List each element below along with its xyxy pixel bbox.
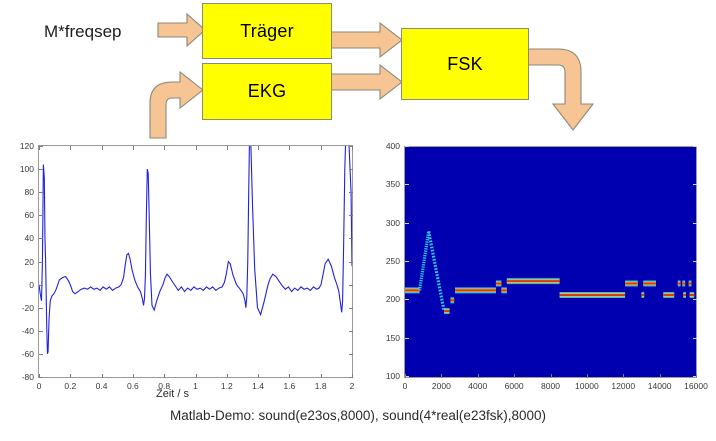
ekg-x-tick-label: 1.4	[244, 381, 272, 391]
ekg-x-tick-mark	[70, 374, 71, 378]
ekg-x-tick-mark	[39, 146, 40, 150]
ekg-plot-area	[38, 145, 353, 378]
arrow-trager-to-fsk	[330, 23, 402, 57]
arrow-ekg-to-fsk	[330, 65, 402, 99]
ekg-x-tick-mark	[227, 374, 228, 378]
ekg-x-tick-label: 0.6	[119, 381, 147, 391]
ekg-x-tick-mark	[133, 146, 134, 150]
ekg-x-tick-mark	[227, 146, 228, 150]
figure-caption: Matlab-Demo: sound(e23os,8000), sound(4*…	[0, 408, 716, 423]
ekg-x-tick-label: 0.2	[56, 381, 84, 391]
block-trager[interactable]: Träger	[202, 3, 332, 59]
ekg-x-tick-mark	[70, 146, 71, 150]
label-m-freqsep: M*freqsep	[44, 22, 121, 42]
ekg-y-tick-label: 20	[8, 257, 34, 267]
spectrogram-y-tick-mark	[693, 261, 697, 262]
spectrogram-x-tick-mark	[623, 374, 624, 378]
spectrogram-y-tick-label: 100	[380, 371, 400, 381]
ekg-x-tick-mark	[289, 146, 290, 150]
ekg-x-tick-label: 2	[338, 381, 366, 391]
chart-ekg-signal: -80-60-40-20020406080100120 00.20.40.60.…	[8, 138, 360, 402]
ekg-y-tick-label: -20	[8, 303, 34, 313]
ekg-x-tick-mark	[289, 374, 290, 378]
ekg-y-tick-label: -60	[8, 349, 34, 359]
ekg-y-tick-mark	[349, 331, 353, 332]
spectrogram-x-tick-mark	[514, 374, 515, 378]
ekg-x-tick-label: 1.6	[275, 381, 303, 391]
spectrogram-y-tick-mark	[693, 299, 697, 300]
spectrogram-x-tick-label: 12000	[605, 381, 641, 391]
block-diagram: M*freqsep Träger EKG FSK	[0, 0, 716, 140]
ekg-y-tick-mark	[39, 262, 43, 263]
ekg-x-tick-mark	[352, 146, 353, 150]
ekg-y-tick-mark	[349, 308, 353, 309]
ekg-x-axis-label: Zeit / s	[156, 388, 189, 400]
ekg-x-tick-mark	[102, 374, 103, 378]
spectrogram-x-tick-mark	[441, 374, 442, 378]
spectrogram-x-tick-mark	[696, 374, 697, 378]
spectrogram-y-tick-label: 300	[380, 218, 400, 228]
spectrogram-x-tick-label: 0	[387, 381, 423, 391]
ekg-y-tick-mark	[39, 192, 43, 193]
spectrogram-x-tick-label: 6000	[496, 381, 532, 391]
ekg-x-tick-mark	[133, 374, 134, 378]
spectrogram-y-tick-label: 250	[380, 256, 400, 266]
spectrogram-y-tick-mark	[405, 184, 409, 185]
spectrogram-y-tick-mark	[405, 146, 409, 147]
ekg-y-tick-mark	[349, 192, 353, 193]
spectrogram-x-tick-mark	[551, 374, 552, 378]
ekg-x-tick-mark	[102, 146, 103, 150]
ekg-y-tick-mark	[349, 215, 353, 216]
spectrogram-x-tick-mark	[660, 374, 661, 378]
ekg-y-tick-mark	[349, 285, 353, 286]
block-fsk[interactable]: FSK	[401, 28, 529, 100]
ekg-trace	[39, 146, 352, 354]
spectrogram-y-tick-mark	[693, 223, 697, 224]
ekg-x-tick-label: 0.4	[88, 381, 116, 391]
spectrogram-y-tick-mark	[405, 223, 409, 224]
ekg-y-tick-mark	[39, 215, 43, 216]
ekg-y-tick-mark	[39, 238, 43, 239]
ekg-x-tick-mark	[321, 146, 322, 150]
block-ekg[interactable]: EKG	[202, 63, 332, 120]
ekg-y-tick-mark	[349, 238, 353, 239]
spectrogram-x-tick-label: 14000	[642, 381, 678, 391]
ekg-y-tick-mark	[39, 331, 43, 332]
ekg-x-tick-mark	[258, 146, 259, 150]
spectrogram-y-tick-label: 400	[380, 141, 400, 151]
ekg-x-tick-mark	[196, 374, 197, 378]
spectrogram-x-tick-label: 10000	[569, 381, 605, 391]
ekg-y-tick-mark	[349, 169, 353, 170]
spectrogram-y-tick-mark	[405, 299, 409, 300]
ekg-y-tick-mark	[39, 285, 43, 286]
spectrogram-y-tick-label: 350	[380, 179, 400, 189]
ekg-x-tick-mark	[258, 374, 259, 378]
arrow-fsk-output-down	[527, 49, 593, 130]
ekg-x-tick-mark	[321, 374, 322, 378]
ekg-x-tick-label: 0	[25, 381, 53, 391]
spectrogram-ridge	[405, 147, 696, 377]
spectrogram-plot-area	[404, 146, 697, 378]
spectrogram-y-tick-mark	[693, 184, 697, 185]
ekg-y-tick-label: 80	[8, 187, 34, 197]
ekg-x-tick-mark	[39, 374, 40, 378]
diagram-arrows	[0, 0, 716, 140]
ekg-y-tick-label: 60	[8, 210, 34, 220]
ekg-y-tick-mark	[39, 169, 43, 170]
spectrogram-y-tick-mark	[405, 261, 409, 262]
ekg-y-tick-mark	[349, 354, 353, 355]
spectrogram-x-tick-mark	[405, 374, 406, 378]
spectrogram-y-tick-mark	[405, 338, 409, 339]
spectrogram-x-tick-mark	[478, 374, 479, 378]
ekg-x-tick-mark	[196, 146, 197, 150]
arrow-input-to-trager	[158, 14, 205, 46]
ekg-y-tick-label: 100	[8, 164, 34, 174]
spectrogram-y-tick-mark	[693, 146, 697, 147]
ekg-x-tick-mark	[164, 146, 165, 150]
ekg-x-tick-label: 1.2	[213, 381, 241, 391]
spectrogram-x-tick-label: 2000	[423, 381, 459, 391]
spectrogram-x-tick-label: 8000	[533, 381, 569, 391]
ekg-y-tick-mark	[39, 354, 43, 355]
spectrogram-x-tick-label: 16000	[678, 381, 714, 391]
spectrogram-y-tick-mark	[693, 338, 697, 339]
ekg-line-series	[39, 146, 352, 377]
spectrogram-y-tick-label: 200	[380, 294, 400, 304]
ekg-y-tick-label: 40	[8, 233, 34, 243]
ekg-y-tick-mark	[349, 262, 353, 263]
spectrogram-y-tick-label: 150	[380, 333, 400, 343]
ekg-y-tick-label: 0	[8, 280, 34, 290]
ekg-y-tick-mark	[39, 308, 43, 309]
ekg-x-tick-mark	[164, 374, 165, 378]
ekg-y-tick-label: -40	[8, 326, 34, 336]
ekg-x-tick-label: 1.8	[307, 381, 335, 391]
ekg-y-tick-label: 120	[8, 141, 34, 151]
spectrogram-x-tick-mark	[587, 374, 588, 378]
ekg-x-tick-mark	[352, 374, 353, 378]
spectrogram-x-tick-label: 4000	[460, 381, 496, 391]
chart-fsk-spectrogram: 100150200250300350400 020004000600080001…	[384, 138, 712, 402]
arrow-curved-to-ekg	[150, 72, 203, 138]
